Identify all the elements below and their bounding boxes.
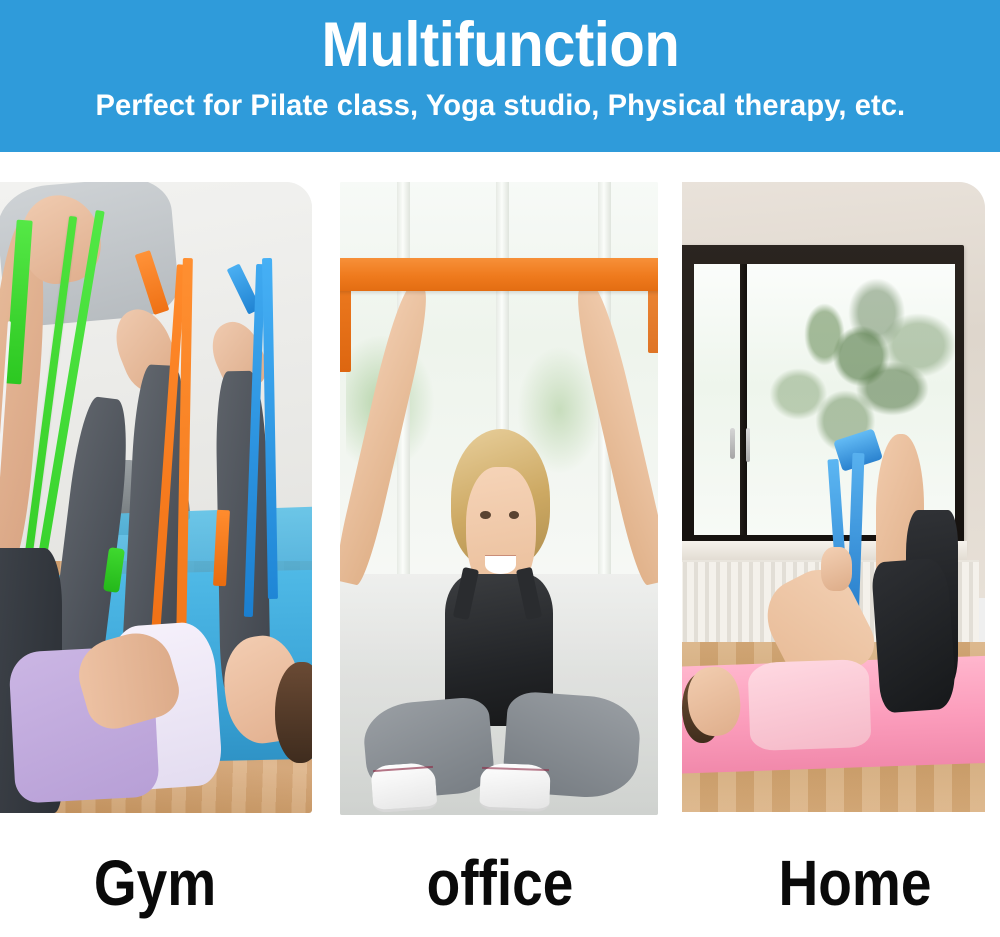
home-black-pants (871, 558, 957, 714)
home-scene (682, 182, 985, 812)
office-scene (340, 182, 658, 815)
label-office: office (397, 845, 603, 921)
home-hand-grip (821, 547, 851, 591)
header-banner: Multifunction Perfect for Pilate class, … (0, 0, 1000, 152)
panel-home-image (682, 182, 985, 812)
gym-scene (0, 182, 312, 813)
panel-row (0, 182, 1000, 815)
label-home: Home (752, 845, 958, 921)
home-window-handle-2 (746, 428, 751, 463)
home-window-sash (740, 264, 748, 535)
page-title: Multifunction (321, 6, 679, 84)
home-pink-top (747, 659, 871, 751)
panel-office-image (340, 182, 658, 815)
panel-gym-image (0, 182, 312, 813)
office-orange-band (340, 258, 658, 291)
panel-labels: Gym office Home (0, 845, 1000, 937)
page-subtitle: Perfect for Pilate class, Yoga studio, P… (95, 86, 905, 126)
home-window-handle-1 (730, 428, 735, 460)
promo-banner-page: Multifunction Perfect for Pilate class, … (0, 0, 1000, 937)
label-gym: Gym (52, 845, 258, 921)
